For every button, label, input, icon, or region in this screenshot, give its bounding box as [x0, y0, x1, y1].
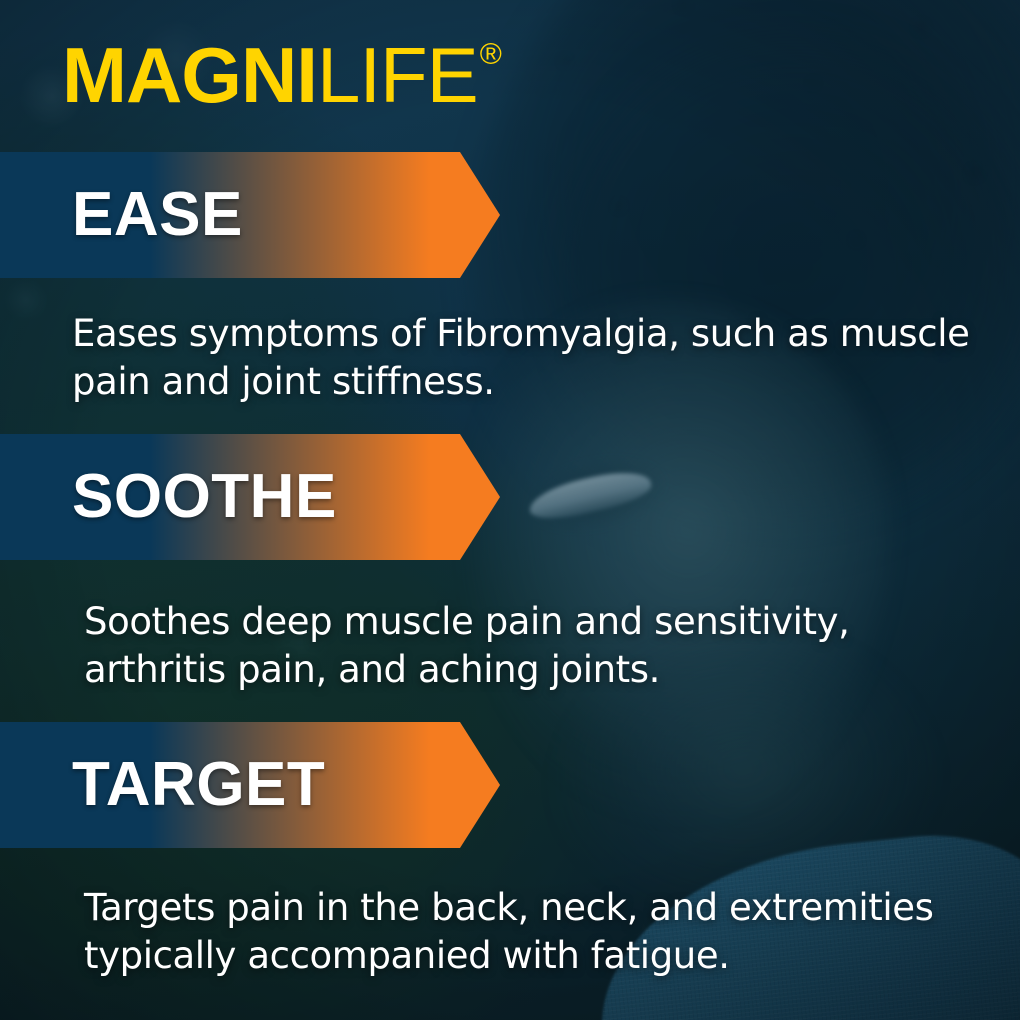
benefit-description-soothe: Soothes deep muscle pain and sensitivity… [84, 598, 964, 694]
brand-logo-life: LIFE [317, 36, 478, 114]
benefit-banner-ease: EASE [0, 152, 500, 278]
description-line: pain and joint stiffness. [72, 358, 972, 406]
description-line: Soothes deep muscle pain and sensitivity… [84, 598, 964, 646]
benefit-description-ease: Eases symptoms of Fibromyalgia, such as … [72, 310, 972, 406]
registered-trademark-icon: ® [480, 40, 502, 70]
description-line: arthritis pain, and aching joints. [84, 646, 964, 694]
description-line: Targets pain in the back, neck, and extr… [84, 884, 974, 932]
benefit-label-ease: EASE [0, 184, 243, 246]
description-line: Eases symptoms of Fibromyalgia, such as … [72, 310, 972, 358]
benefit-label-target: TARGET [0, 754, 325, 816]
benefit-banner-soothe: SOOTHE [0, 434, 500, 560]
benefit-label-soothe: SOOTHE [0, 466, 337, 528]
description-line: typically accompanied with fatigue. [84, 932, 974, 980]
product-benefits-infographic: MAGNI LIFE ® EASE Eases symptoms of Fibr… [0, 0, 1020, 1020]
benefit-description-target: Targets pain in the back, neck, and extr… [84, 884, 974, 980]
brand-logo-magni: MAGNI [62, 36, 317, 114]
brand-logo: MAGNI LIFE ® [62, 36, 502, 114]
benefit-banner-target: TARGET [0, 722, 500, 848]
